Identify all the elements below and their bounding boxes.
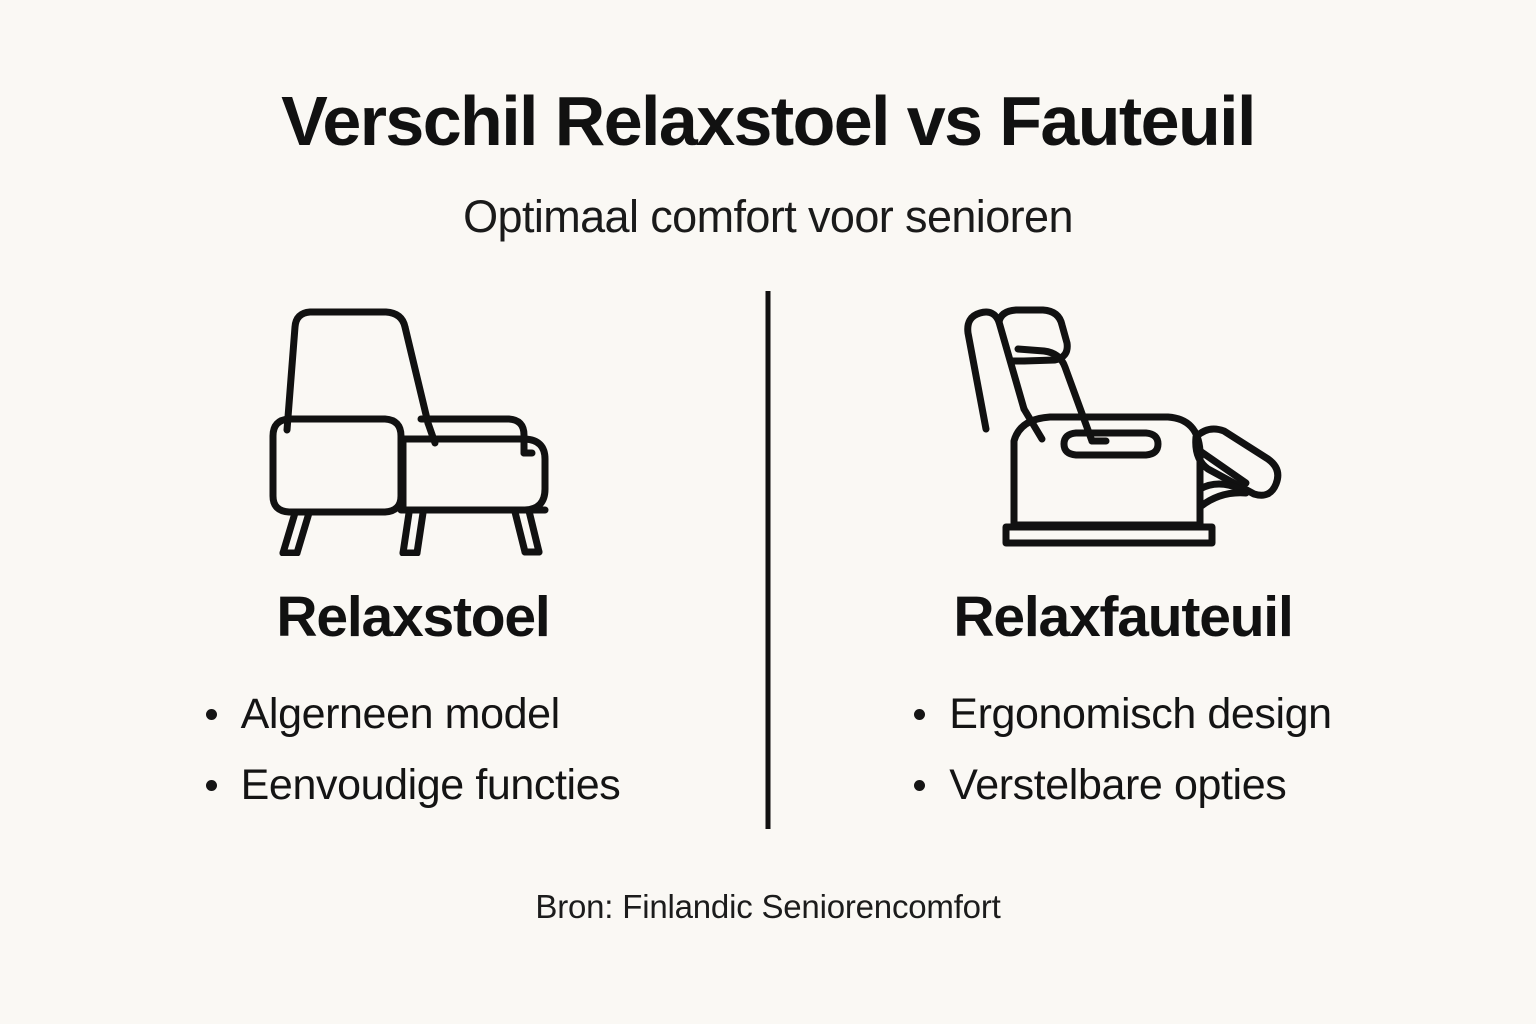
infographic-root: Verschil Relaxstoel vs Fauteuil Optimaal…	[0, 0, 1536, 1024]
comparison-section: Relaxstoel Algerneen model Eenvoudige fu…	[58, 291, 1478, 834]
column-heading-relaxstoel: Relaxstoel	[276, 561, 549, 646]
page-subtitle: Optimaal comfort voor senioren	[0, 156, 1536, 239]
bullet-dot-icon	[206, 709, 217, 720]
bullet-dot-icon	[914, 709, 925, 720]
feature-label: Ergonomisch design	[949, 692, 1331, 737]
column-heading-relaxfauteuil: Relaxfauteuil	[953, 561, 1292, 646]
feature-label: Algerneen model	[241, 692, 560, 737]
bullet-dot-icon	[206, 780, 217, 791]
comparison-column-relaxstoel: Relaxstoel Algerneen model Eenvoudige fu…	[58, 291, 768, 834]
vertical-divider	[766, 291, 771, 829]
feature-list-relaxstoel: Algerneen model Eenvoudige functies	[206, 646, 621, 834]
list-item: Verstelbare opties	[914, 763, 1331, 834]
header: Verschil Relaxstoel vs Fauteuil Optimaal…	[0, 86, 1536, 239]
recliner-icon	[946, 291, 1301, 556]
armchair-icon	[253, 291, 573, 556]
page-title: Verschil Relaxstoel vs Fauteuil	[0, 86, 1536, 156]
list-item: Algerneen model	[206, 692, 621, 763]
recliner-illustration	[946, 291, 1301, 561]
comparison-column-relaxfauteuil: Relaxfauteuil Ergonomisch design Verstel…	[768, 291, 1478, 834]
armchair-illustration	[253, 291, 573, 561]
list-item: Ergonomisch design	[914, 692, 1331, 763]
feature-label: Eenvoudige functies	[241, 763, 621, 808]
bullet-dot-icon	[914, 780, 925, 791]
feature-list-relaxfauteuil: Ergonomisch design Verstelbare opties	[914, 646, 1331, 834]
list-item: Eenvoudige functies	[206, 763, 621, 834]
source-attribution: Bron: Finlandic Seniorencomfort	[535, 834, 1000, 926]
feature-label: Verstelbare opties	[949, 763, 1286, 808]
